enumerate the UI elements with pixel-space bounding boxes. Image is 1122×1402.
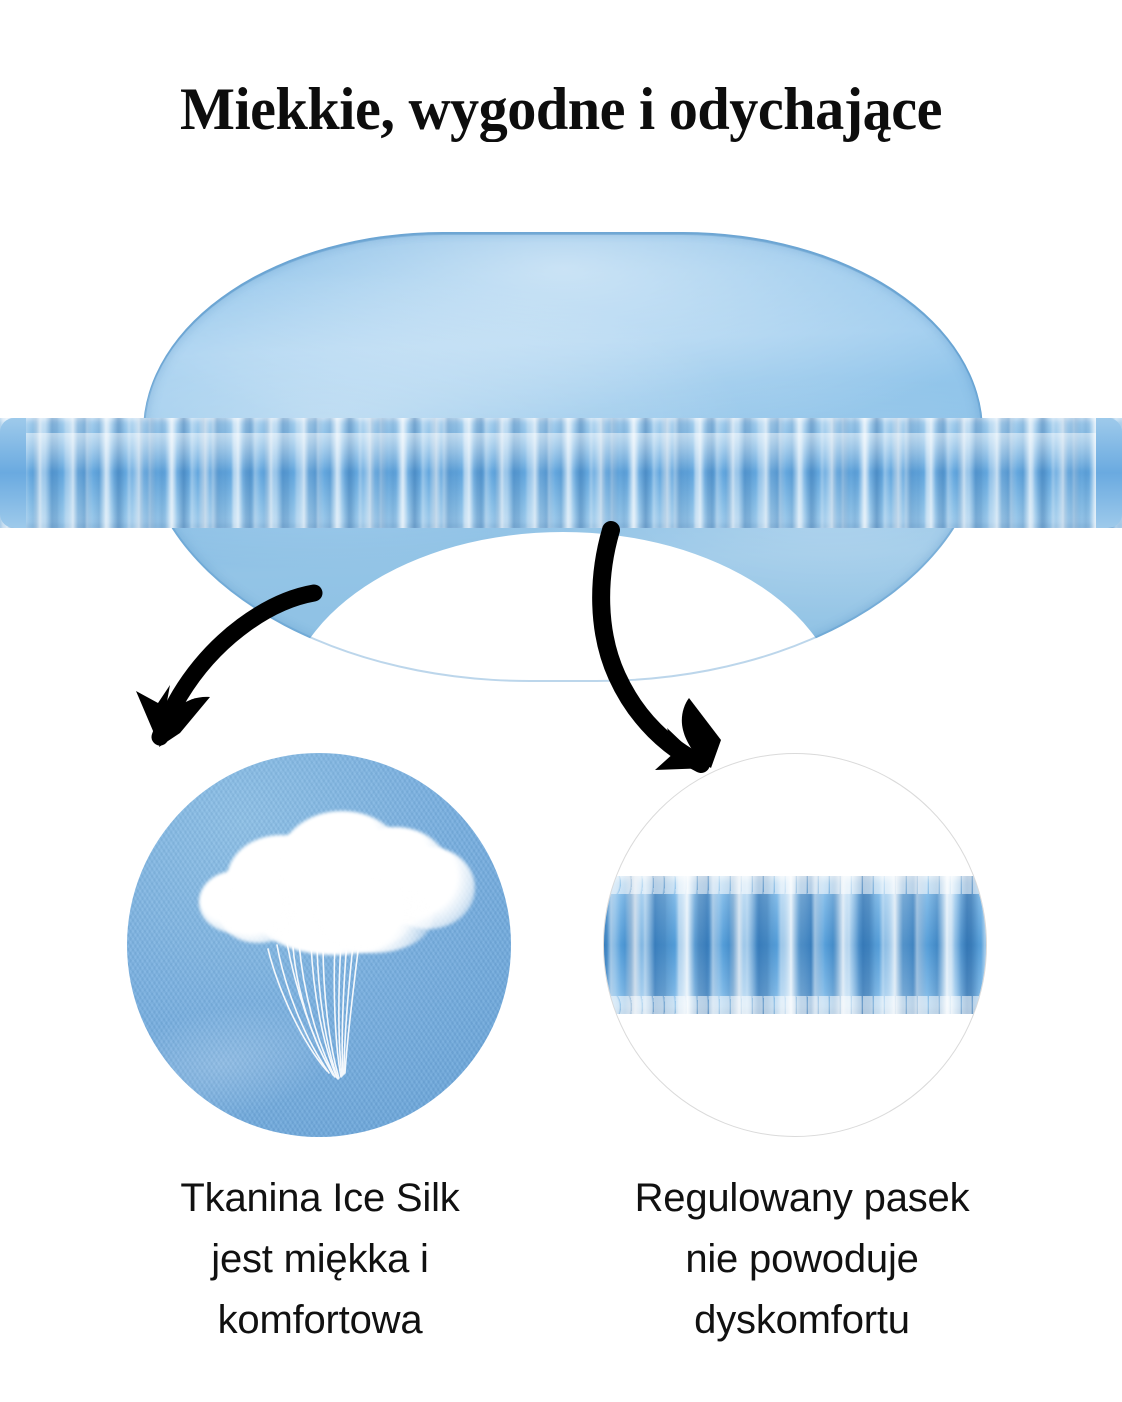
caption-line: Tkanina Ice Silk xyxy=(90,1168,550,1229)
ruched-elastic-strap xyxy=(0,418,1122,528)
curved-arrow-down-right-icon xyxy=(575,508,790,798)
strap-closeup xyxy=(603,876,987,1014)
caption-line: jest miękka i xyxy=(90,1229,550,1290)
strap-pleats-fine xyxy=(0,418,1122,528)
strap-closeup-bottom-edge xyxy=(603,996,987,1018)
feature-inset-strap xyxy=(603,753,987,1137)
caption-line: nie powoduje xyxy=(572,1229,1032,1290)
caption-line: dyskomfortu xyxy=(572,1290,1032,1351)
caption-line: komfortowa xyxy=(90,1290,550,1351)
feature-inset-fabric xyxy=(127,753,511,1137)
strap-end-left xyxy=(0,418,26,528)
caption-line: Regulowany pasek xyxy=(572,1168,1032,1229)
strap-closeup-pleats-fine xyxy=(603,876,987,1014)
strap-end-right xyxy=(1096,418,1122,528)
silk-fiber-strands xyxy=(127,753,511,1137)
feature-caption-fabric: Tkanina Ice Silk jest miękka i komfortow… xyxy=(90,1168,550,1351)
feature-caption-strap: Regulowany pasek nie powoduje dyskomfort… xyxy=(572,1168,1032,1351)
page-title: Miekkie, wygodne i odychające xyxy=(17,78,1105,141)
strap-closeup-top-edge xyxy=(603,872,987,894)
